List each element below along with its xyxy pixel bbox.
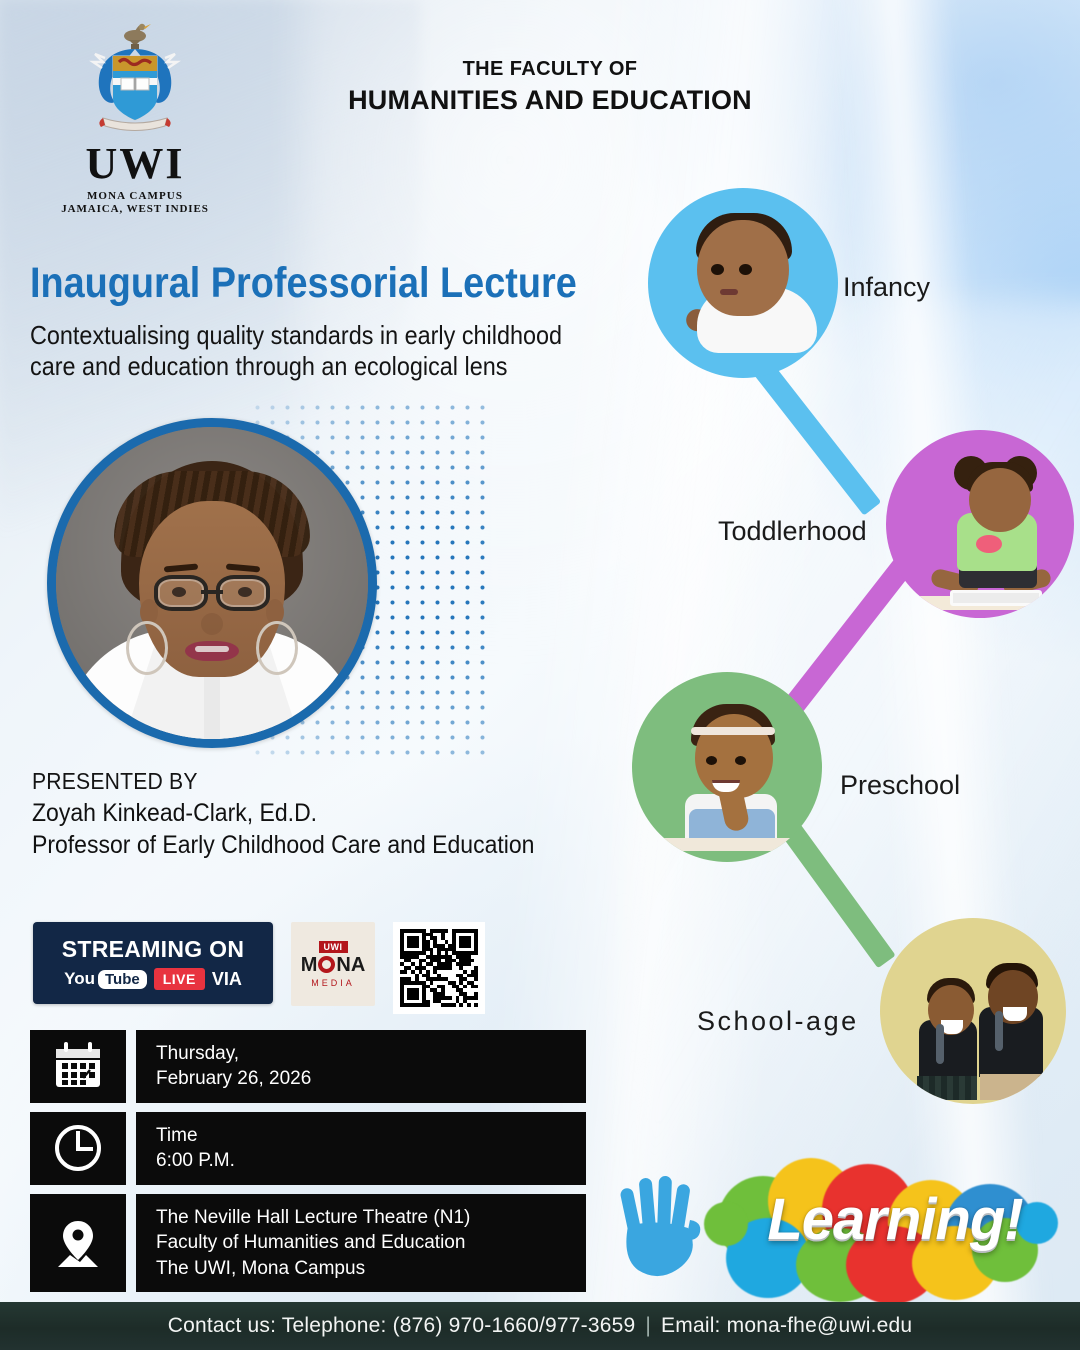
stage-circle-toddlerhood[interactable] — [886, 430, 1074, 618]
event-venue-line-3: The UWI, Mona Campus — [156, 1256, 566, 1281]
uwi-coat-of-arms-icon — [50, 22, 220, 140]
mona-logo-uwi-badge: UWI — [319, 941, 348, 953]
event-venue-text: The Neville Hall Lecture Theatre (N1) Fa… — [136, 1194, 586, 1292]
stage-label-infancy: Infancy — [843, 272, 930, 303]
via-label: VIA — [212, 969, 242, 990]
faculty-header-line-1: THE FACULTY OF — [300, 58, 800, 81]
streaming-row: STREAMING ON You Tube LIVE VIA UWI M NA … — [33, 922, 485, 1014]
presenter-block: PRESENTED BY Zoyah Kinkead-Clark, Ed.D. … — [32, 768, 592, 860]
event-time-label: Time — [156, 1123, 566, 1148]
event-details-list: Thursday, February 26, 2026 Time 6:00 P.… — [30, 1030, 586, 1292]
event-venue-line-1: The Neville Hall Lecture Theatre (N1) — [156, 1205, 566, 1230]
calendar-icon — [30, 1030, 126, 1103]
mona-logo-na: NA — [336, 955, 365, 975]
presenter-rank: Professor of Early Childhood Care and Ed… — [32, 831, 547, 860]
uwi-logo-block: UWI MONA CAMPUS JAMAICA, WEST INDIES — [50, 22, 220, 215]
avatar — [47, 418, 377, 748]
faculty-header: THE FACULTY OF HUMANITIES AND EDUCATION — [300, 58, 800, 116]
event-date-text: Thursday, February 26, 2026 — [136, 1030, 586, 1103]
footer-separator: | — [645, 1314, 651, 1338]
stage-circle-preschool[interactable] — [632, 672, 822, 862]
youtube-logo-icon: You Tube — [64, 969, 147, 989]
uwi-wordmark: UWI — [50, 142, 220, 186]
learning-word: Learning! — [740, 1186, 1050, 1253]
event-date-line-2: February 26, 2026 — [156, 1066, 566, 1091]
stage-label-toddlerhood: Toddlerhood — [718, 516, 867, 547]
live-badge: LIVE — [154, 968, 205, 990]
connector-toddlerhood-preschool — [782, 553, 916, 716]
list-item: Thursday, February 26, 2026 — [30, 1030, 586, 1103]
stage-circle-school-age[interactable] — [880, 918, 1066, 1104]
footer-contact-bar: Contact us: Telephone: (876) 970-1660/97… — [0, 1302, 1080, 1350]
stage-label-school-age: School-age — [697, 1006, 859, 1037]
footer-email[interactable]: Email: mona-fhe@uwi.edu — [661, 1314, 912, 1338]
event-date-line-1: Thursday, — [156, 1041, 566, 1066]
event-venue-line-2: Faculty of Humanities and Education — [156, 1230, 566, 1255]
qr-code-icon[interactable] — [393, 922, 485, 1014]
clock-icon — [30, 1112, 126, 1185]
blue-handprint-icon — [610, 1174, 706, 1282]
uwi-mona-media-logo[interactable]: UWI M NA MEDIA — [291, 922, 375, 1006]
stage-label-preschool: Preschool — [840, 770, 960, 801]
list-item: The Neville Hall Lecture Theatre (N1) Fa… — [30, 1194, 586, 1292]
faculty-header-line-2: HUMANITIES AND EDUCATION — [300, 85, 800, 116]
youtube-tube-text: Tube — [98, 970, 147, 989]
presenter-name: Zoyah Kinkead-Clark, Ed.D. — [32, 799, 547, 828]
page-title: Inaugural Professorial Lecture — [30, 262, 576, 306]
learning-splash-graphic: Learning! — [600, 1150, 1070, 1300]
camera-aperture-icon — [318, 956, 335, 973]
uwi-campus-line-2: JAMAICA, WEST INDIES — [50, 203, 220, 215]
uwi-campus-line-1: MONA CAMPUS — [50, 190, 220, 202]
lecture-title-block: Inaugural Professorial Lecture Contextua… — [30, 262, 650, 382]
list-item: Time 6:00 P.M. — [30, 1112, 586, 1185]
location-pin-icon — [30, 1194, 126, 1292]
footer-telephone: Contact us: Telephone: (876) 970-1660/97… — [168, 1314, 636, 1338]
presented-by-label: PRESENTED BY — [32, 768, 547, 795]
streaming-banner[interactable]: STREAMING ON You Tube LIVE VIA — [33, 922, 273, 1004]
event-time-text: Time 6:00 P.M. — [136, 1112, 586, 1185]
youtube-you-text: You — [64, 969, 95, 989]
mona-logo-media: MEDIA — [311, 978, 355, 988]
streaming-on-label: STREAMING ON — [62, 936, 245, 963]
poster-canvas: UWI MONA CAMPUS JAMAICA, WEST INDIES THE… — [0, 0, 1080, 1350]
lecture-subtitle: Contextualising quality standards in ear… — [30, 320, 588, 382]
mona-logo-m: M — [301, 955, 318, 975]
stage-circle-infancy[interactable] — [648, 188, 838, 378]
event-time-value: 6:00 P.M. — [156, 1148, 566, 1173]
portrait-photo — [47, 418, 377, 748]
